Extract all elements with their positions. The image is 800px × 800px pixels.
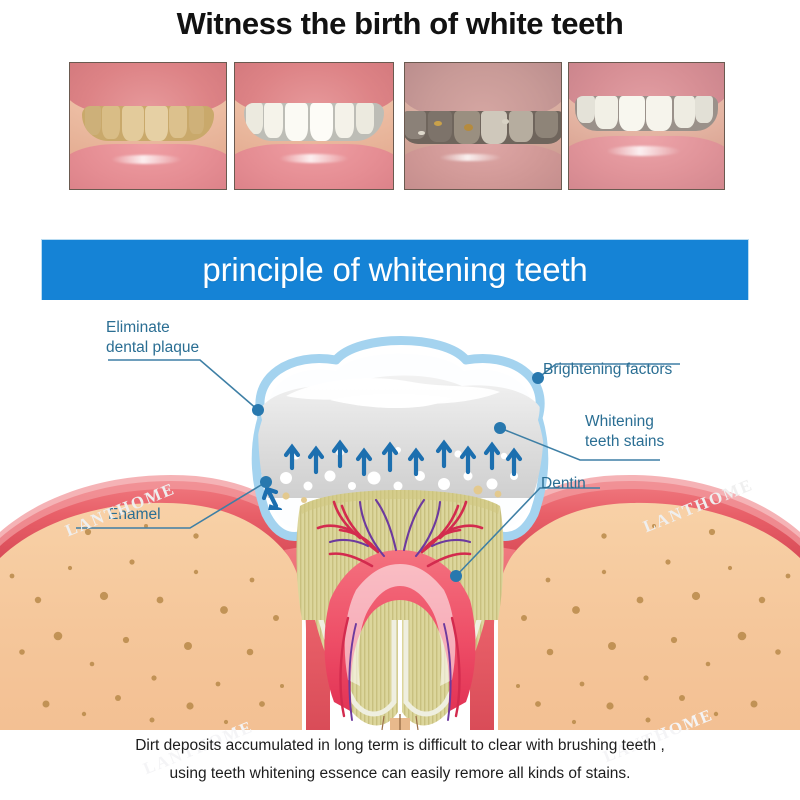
label-eliminate-dental-plaque: Eliminate dental plaque (106, 318, 199, 358)
section-banner: principle of whitening teeth (42, 240, 748, 300)
caption: Dirt deposits accumulated in long term i… (0, 732, 800, 788)
caption-line-2: using teeth whitening essence can easily… (0, 760, 800, 788)
label-enamel: Enamel (108, 505, 161, 524)
caption-line-1: Dirt deposits accumulated in long term i… (0, 732, 800, 760)
banner-title: principle of whitening teeth (42, 240, 748, 300)
before-after-photo-strip (0, 0, 800, 210)
label-brightening-factors: Brightening factors (543, 360, 672, 379)
product-infographic-page: Witness the birth of white teeth (0, 0, 800, 800)
photo-stained-teeth (404, 62, 562, 190)
photo-clean-white-teeth (568, 62, 725, 190)
label-whitening-teeth-stains: Whitening teeth stains (585, 412, 664, 452)
photo-after-white-teeth (234, 62, 394, 190)
photo-before-yellow-teeth (69, 62, 227, 190)
label-dentin: Dentin (541, 474, 586, 493)
